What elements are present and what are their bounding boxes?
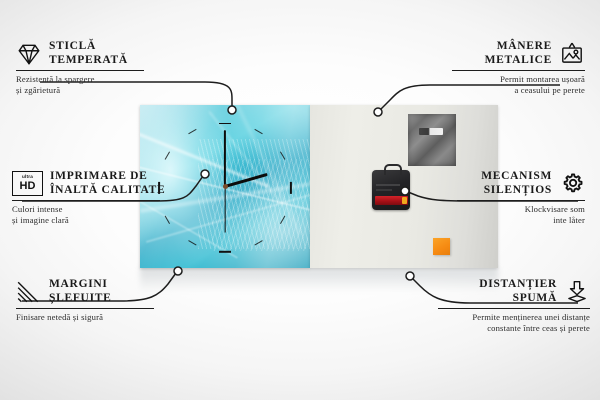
- diamond-icon: [16, 41, 42, 67]
- connector-endpoint-mecanism: [401, 187, 409, 195]
- feature-title-line2: METALICE: [485, 54, 552, 66]
- feature-subtitle-line2: constante între ceas și perete: [487, 323, 590, 333]
- feature-subtitle-line2: a ceasului pe perete: [514, 85, 585, 95]
- feature-subtitle-line1: Culori intense: [12, 204, 63, 214]
- callout-divider: [452, 70, 585, 71]
- feature-subtitle-line1: Permit montarea ușoară: [500, 74, 585, 84]
- beveled-edge-icon: [16, 279, 42, 305]
- feature-subtitle-line1: Finisare netedă și sigură: [16, 312, 103, 322]
- ultra-hd-icon-main-text: HD: [20, 181, 36, 192]
- feature-title-line2: TEMPERATĂ: [49, 54, 128, 66]
- callout-divider: [12, 200, 160, 201]
- connector-endpoint-distantier: [406, 272, 414, 280]
- feature-title-line2: SPUMĂ: [513, 292, 557, 304]
- feature-subtitle-line1: Rezistentă la spargere: [16, 74, 95, 84]
- feature-subtitle-line1: Permite menținerea unei distanțe: [472, 312, 590, 322]
- feature-title-line1: DISTANȚIER: [479, 278, 557, 290]
- feature-callout-sticla-temperata: STICLĂ TEMPERATĂ Rezistentă la spargere …: [16, 40, 166, 95]
- press-down-icon: [564, 279, 590, 305]
- callout-divider: [16, 308, 154, 309]
- connector-endpoint-sticla: [228, 106, 236, 114]
- feature-title-line2: SILENȚIOS: [484, 184, 552, 196]
- feature-title-line1: MECANISM: [481, 170, 552, 182]
- feature-subtitle-line2: inte låter: [553, 215, 585, 225]
- callout-divider: [16, 70, 144, 71]
- feature-subtitle-line2: și imagine clară: [12, 215, 69, 225]
- connector-endpoint-margini: [174, 267, 182, 275]
- infographic-canvas: STICLĂ TEMPERATĂ Rezistentă la spargere …: [0, 0, 600, 400]
- feature-subtitle-line2: și zgârietură: [16, 85, 60, 95]
- callout-divider: [457, 200, 585, 201]
- feature-callout-manere-metalice: MÂNERE METALICE Permit montarea ușoară a…: [430, 40, 585, 95]
- feature-callout-distantier-spuma: DISTANȚIER SPUMĂ Permite menținerea unei…: [438, 278, 590, 333]
- connector-endpoint-imprimare: [201, 170, 209, 178]
- feature-title-line1: MÂNERE: [497, 40, 552, 52]
- feature-title-line2: ȘLEFUITE: [49, 292, 111, 304]
- feature-title-line2: ÎNALTĂ CALITATE: [50, 184, 165, 196]
- feature-callout-mecanism-silentios: MECANISM SILENȚIOS Klockvisare som inte …: [435, 170, 585, 225]
- feature-title-line1: IMPRIMARE DE: [50, 170, 148, 182]
- callout-divider: [438, 308, 590, 309]
- picture-hanger-icon: [559, 41, 585, 67]
- feature-title-line1: STICLĂ: [49, 40, 96, 52]
- connector-endpoint-manere: [374, 108, 382, 116]
- ultra-hd-icon: ultra HD: [12, 171, 43, 196]
- feature-subtitle-line1: Klockvisare som: [525, 204, 585, 214]
- feature-callout-margini-slefuite: MARGINI ȘLEFUITE Finisare netedă și sigu…: [16, 278, 176, 323]
- feature-callout-imprimare-hd: ultra HD IMPRIMARE DE ÎNALTĂ CALITATE Cu…: [12, 170, 182, 225]
- feature-title-line1: MARGINI: [49, 278, 108, 290]
- gear-icon: [559, 171, 585, 197]
